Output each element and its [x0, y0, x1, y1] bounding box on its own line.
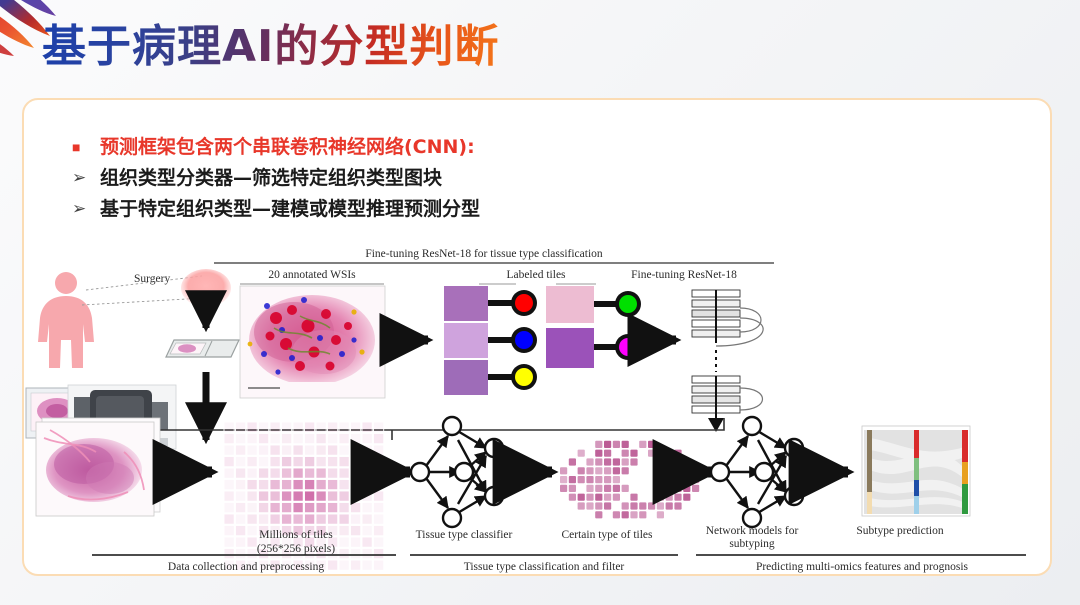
stage-label-millions-line2: (256*256 pixels) — [257, 543, 335, 555]
surgery-label: Surgery — [134, 273, 170, 285]
stage-label-netmodels-line2: subtyping — [729, 538, 775, 550]
stage-label-certain-tiles: Certain type of tiles — [561, 529, 653, 541]
page-title: 基于病理AI的分型判断 — [42, 10, 499, 74]
glass-slide-icon — [166, 340, 239, 357]
annotated-wsi-image — [240, 286, 385, 398]
subtyping-network — [711, 417, 803, 527]
certain-tiles-cluster — [560, 441, 699, 519]
stage-label-classifier: Tissue type classifier — [416, 529, 513, 541]
group-label-prediction: Predicting multi-omics features and prog… — [756, 561, 969, 573]
group-label-data-collection: Data collection and preprocessing — [168, 561, 324, 573]
wsi-thumbnail — [36, 418, 160, 516]
content-card: ■ 预测框架包含两个串联卷积神经网络(CNN): ➢ 组织类型分类器—筛选特定组… — [22, 98, 1052, 576]
labeled-tile-group — [546, 286, 641, 368]
tissue-classifier-network — [411, 417, 503, 527]
panel-label-tiles: Labeled tiles — [506, 269, 566, 281]
top-bracket-label: Fine-tuning ResNet-18 for tissue type cl… — [365, 248, 603, 260]
pipeline-figure: Fine-tuning ResNet-18 for tissue type cl… — [24, 100, 1054, 578]
stage-label-millions-line1: Millions of tiles — [259, 529, 333, 541]
stage-label-subtype: Subtype prediction — [856, 525, 943, 537]
tumor-blob — [181, 269, 231, 307]
subtype-prediction-sankey — [862, 426, 970, 516]
panel-label-wsi: 20 annotated WSIs — [268, 269, 356, 281]
patient-icon — [38, 272, 94, 368]
stage-label-netmodels-line1: Network models for — [706, 525, 799, 537]
labeled-tile-group — [444, 286, 537, 395]
group-label-classification: Tissue type classification and filter — [464, 561, 625, 573]
resnet-diagram — [692, 290, 763, 432]
panel-label-resnet: Fine-tuning ResNet-18 — [631, 269, 737, 281]
